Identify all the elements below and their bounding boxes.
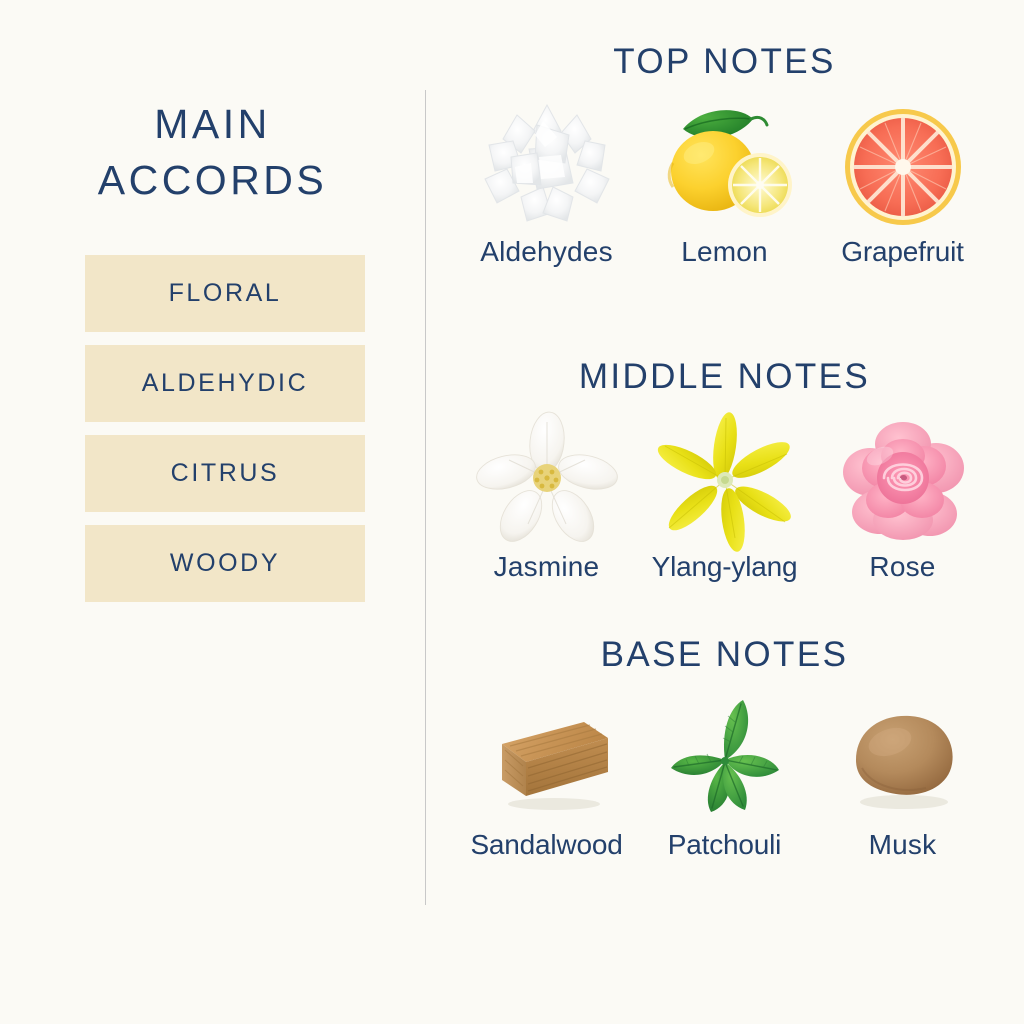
accord-label: CITRUS [171,459,280,488]
note-label: Aldehydes [480,236,613,268]
note-item-jasmine[interactable]: Jasmine [458,413,636,583]
crystal-cluster-icon [472,98,622,230]
note-group-base: BASE NOTES [425,633,1024,861]
page-title-line-2: ACCORDS [0,152,425,208]
rose-flower-icon [828,413,978,545]
group-heading-base: BASE NOTES [425,633,1024,677]
accord-bar-woody[interactable]: WOODY [85,525,365,602]
infographic-canvas: MAIN ACCORDS FLORAL ALDEHYDIC CITRUS WOO… [0,0,1024,1024]
musk-pebble-icon [828,691,978,823]
note-item-aldehydes[interactable]: Aldehydes [458,98,636,268]
note-item-ylang-ylang[interactable]: Ylang-ylang [636,413,814,583]
note-item-rose[interactable]: Rose [814,413,992,583]
note-item-musk[interactable]: Musk [814,691,992,861]
note-item-grapefruit[interactable]: Grapefruit [814,98,992,268]
notes-panel: TOP NOTES [425,0,1024,1024]
accord-bar-aldehydic[interactable]: ALDEHYDIC [85,345,365,422]
sandalwood-block-icon [472,691,622,823]
note-label: Ylang-ylang [652,551,798,583]
lemon-icon [650,98,800,230]
note-label: Musk [869,829,937,861]
group-heading-middle: MIDDLE NOTES [425,355,1024,399]
main-accords-panel: MAIN ACCORDS FLORAL ALDEHYDIC CITRUS WOO… [0,0,425,1024]
note-item-lemon[interactable]: Lemon [636,98,814,268]
page-title-line-1: MAIN [0,96,425,152]
accord-label: WOODY [170,549,280,578]
note-row-base: Sandalwood [425,691,1024,861]
group-heading-top: TOP NOTES [425,40,1024,84]
ylang-ylang-flower-icon [650,413,800,545]
note-label: Lemon [681,236,768,268]
accord-bar-floral[interactable]: FLORAL [85,255,365,332]
accord-label: FLORAL [169,279,282,308]
note-item-patchouli[interactable]: Patchouli [636,691,814,861]
accord-label: ALDEHYDIC [142,369,309,398]
note-label: Grapefruit [841,236,964,268]
note-group-top: TOP NOTES [425,40,1024,268]
jasmine-flower-icon [472,413,622,545]
patchouli-leaves-icon [650,691,800,823]
grapefruit-half-icon [828,98,978,230]
note-label: Rose [869,551,935,583]
note-label: Patchouli [668,829,781,861]
note-group-middle: MIDDLE NOTES [425,355,1024,583]
note-item-sandalwood[interactable]: Sandalwood [458,691,636,861]
page-title: MAIN ACCORDS [0,96,425,208]
note-label: Sandalwood [470,829,622,861]
note-row-middle: Jasmine [425,413,1024,583]
accord-list: FLORAL ALDEHYDIC CITRUS WOODY [85,255,365,615]
note-row-top: Aldehydes [425,98,1024,268]
accord-bar-citrus[interactable]: CITRUS [85,435,365,512]
note-label: Jasmine [494,551,600,583]
